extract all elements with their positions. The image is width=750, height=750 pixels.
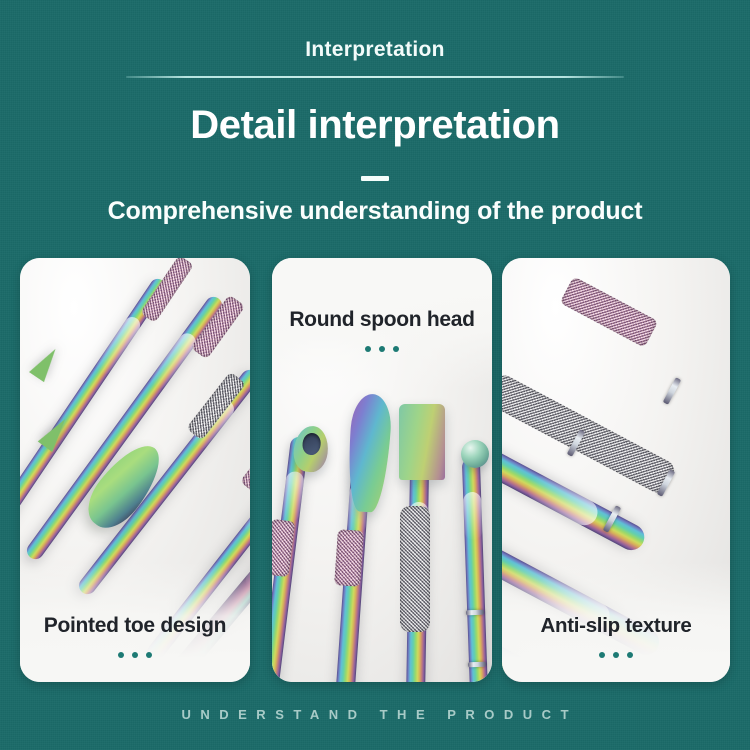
dot [613, 652, 619, 658]
header-divider-line [126, 76, 624, 78]
card-caption: Round spoon head [272, 308, 492, 332]
dot [627, 652, 633, 658]
footer-tagline: UNDERSTAND THE PRODUCT [0, 707, 750, 722]
page-subtitle: Comprehensive understanding of the produ… [0, 197, 750, 226]
dot [599, 652, 605, 658]
caption-block-round-spoon: Round spoon head [272, 308, 492, 352]
feature-card-anti-slip[interactable]: Anti-slip texture [502, 258, 730, 682]
caption-block-anti-slip: Anti-slip texture [502, 614, 730, 658]
eyebrow-label: Interpretation [0, 38, 750, 62]
feature-card-pointed-toe[interactable]: Pointed toe design [20, 258, 250, 682]
page-title: Detail interpretation [0, 103, 750, 148]
dot [379, 346, 385, 352]
dot [132, 652, 138, 658]
caption-dots [502, 652, 730, 658]
card-caption: Pointed toe design [20, 614, 250, 638]
title-underline-dash [361, 176, 389, 181]
dot [118, 652, 124, 658]
caption-dots [20, 652, 250, 658]
product-detail-poster: Interpretation Detail interpretation Com… [0, 0, 750, 750]
caption-block-pointed-toe: Pointed toe design [20, 614, 250, 658]
poster-header: Interpretation Detail interpretation Com… [0, 0, 750, 226]
caption-dots [272, 346, 492, 352]
dot [393, 346, 399, 352]
feature-card-round-spoon[interactable]: Round spoon head [272, 258, 492, 682]
card-caption: Anti-slip texture [502, 614, 730, 638]
dot [146, 652, 152, 658]
dot [365, 346, 371, 352]
